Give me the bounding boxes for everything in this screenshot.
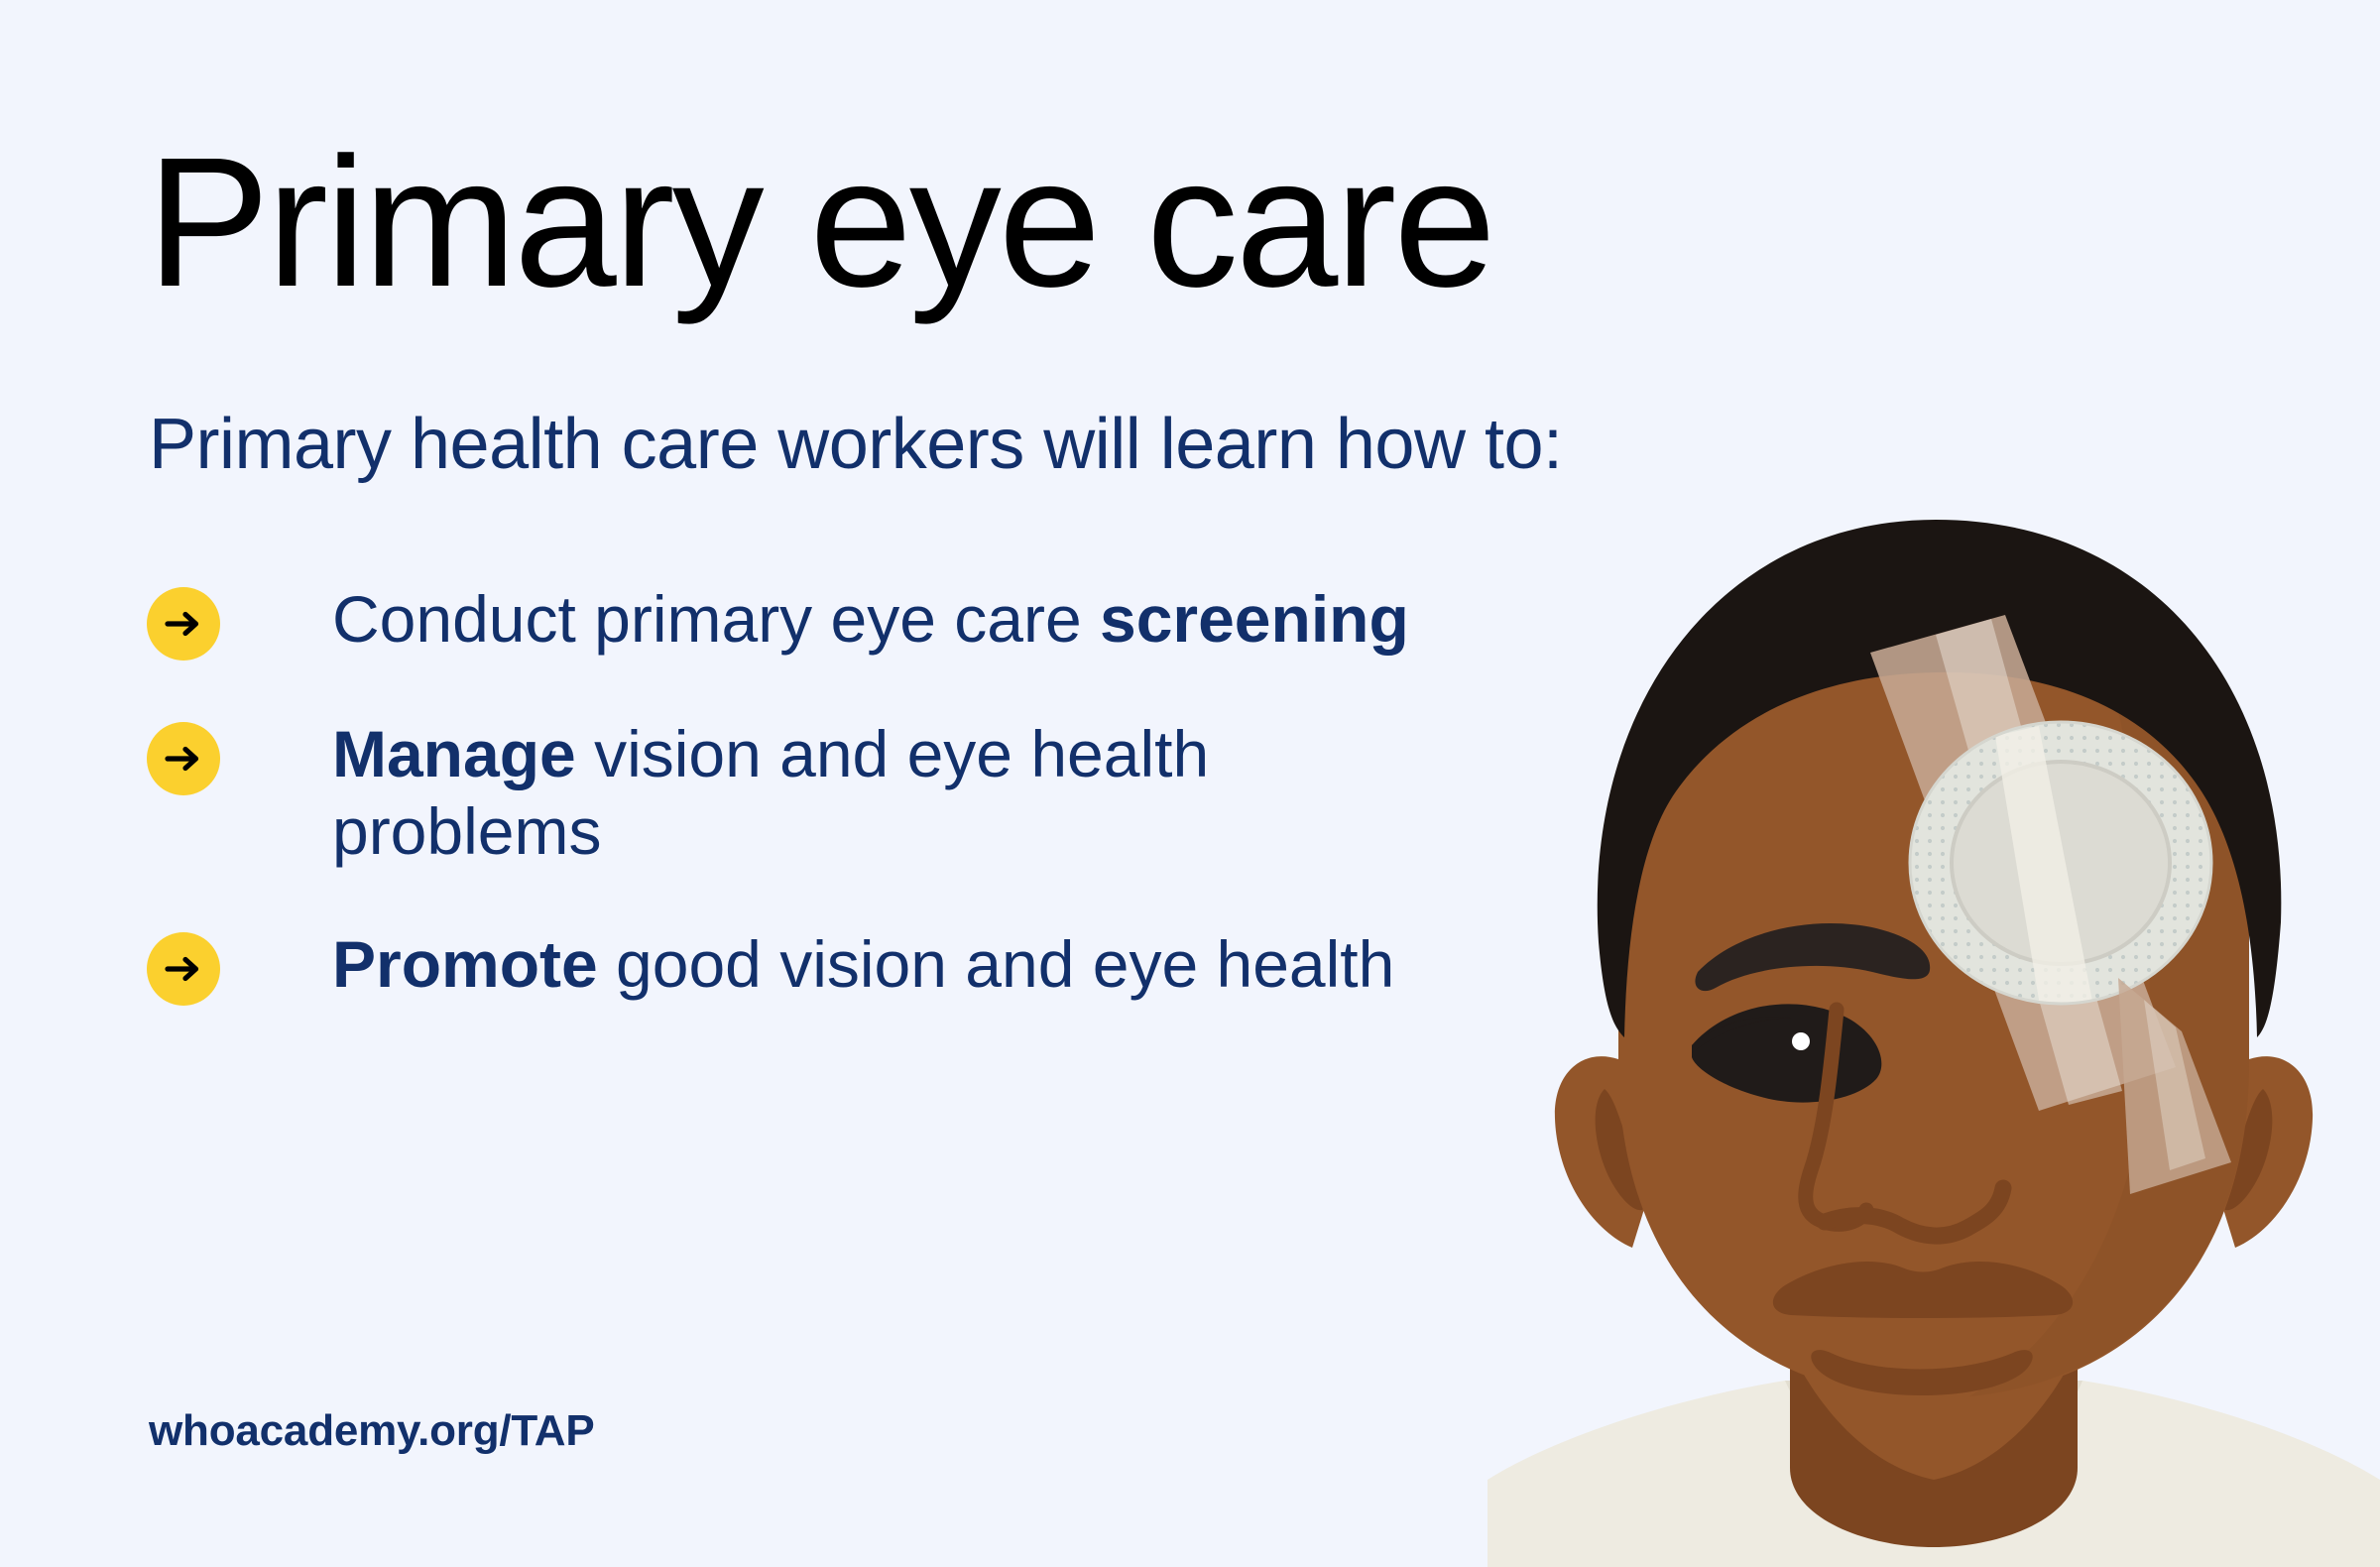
list-item-label: Promote good vision and eye health bbox=[332, 926, 1476, 1004]
arrow-right-icon bbox=[147, 587, 220, 661]
bullet-emphasis-text: Manage bbox=[332, 717, 576, 790]
arrow-right-icon bbox=[147, 722, 220, 795]
footer-url[interactable]: whoacademy.org/TAP bbox=[149, 1406, 595, 1456]
eye-highlight bbox=[1792, 1032, 1810, 1050]
subtitle: Primary health care workers will learn h… bbox=[149, 409, 1563, 480]
man-with-eye-patch-illustration bbox=[1487, 476, 2380, 1567]
list-item-label: Conduct primary eye care screening bbox=[332, 581, 1476, 659]
arrow-right-icon bbox=[147, 932, 220, 1006]
poster-canvas: Primary eye care Primary health care wor… bbox=[0, 0, 2380, 1567]
list-item: Conduct primary eye care screening bbox=[147, 581, 1476, 661]
bullet-emphasis-text: Promote bbox=[332, 927, 598, 1001]
page-title: Primary eye care bbox=[147, 131, 1493, 315]
bullet-trail-text: good vision and eye health bbox=[598, 927, 1395, 1001]
bullet-emphasis-text: screening bbox=[1100, 582, 1409, 656]
learning-objectives-list: Conduct primary eye care screening Manag… bbox=[147, 581, 1476, 1061]
text-column: Primary eye care Primary health care wor… bbox=[147, 0, 1535, 1567]
list-item: Promote good vision and eye health bbox=[147, 926, 1476, 1006]
list-item-label: Manage vision and eye health problems bbox=[332, 716, 1476, 871]
list-item: Manage vision and eye health problems bbox=[147, 716, 1476, 871]
bullet-lead-text: Conduct primary eye care bbox=[332, 582, 1100, 656]
